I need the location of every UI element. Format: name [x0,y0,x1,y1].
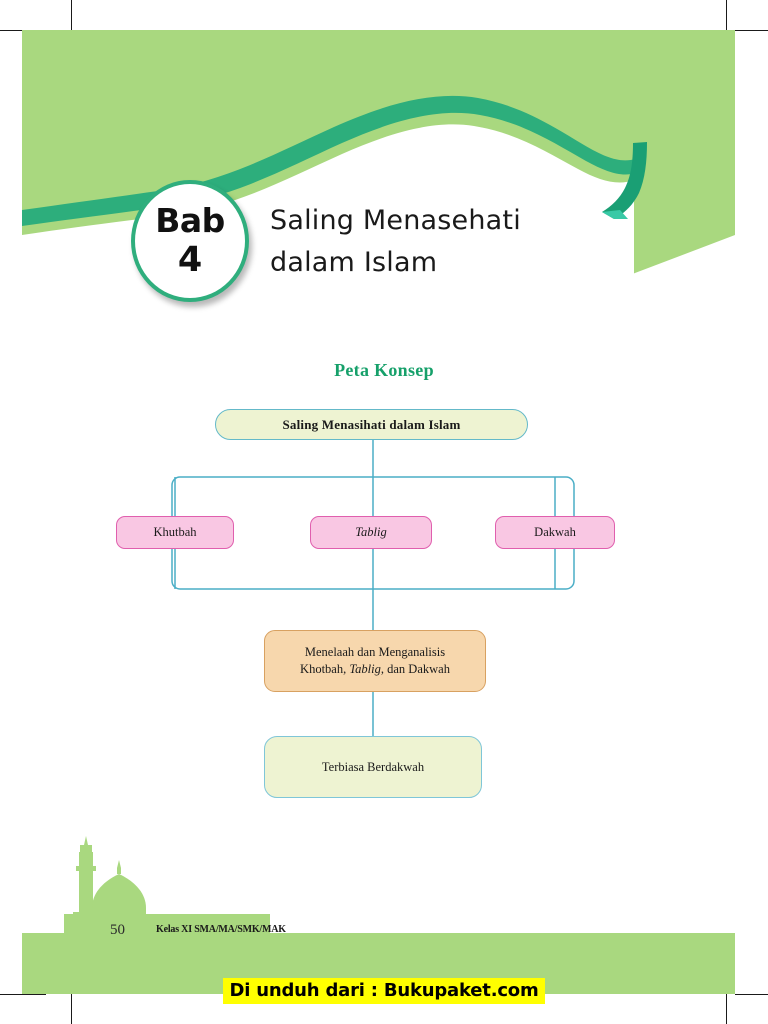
mosque-silhouette-icon [40,836,270,936]
concept-node-root: Saling Menasihati dalam Islam [215,409,528,440]
concept-node-khutbah: Khutbah [116,516,234,549]
process-line-2-pre: Khotbah, [300,662,349,676]
process-line-2-italic: Tablig [349,662,381,676]
download-banner-text: Di unduh dari : Bukupaket.com [223,978,544,1004]
chapter-label: Bab [155,204,225,237]
concept-node-dakwah: Dakwah [495,516,615,549]
process-line-1: Menelaah dan Menganalisis [305,645,445,659]
page-title: Saling Menasehati dalam Islam [270,200,521,284]
chapter-title-line-2: dalam Islam [270,242,521,284]
process-line-2-post: , dan Dakwah [381,662,450,676]
crop-mark-top-right-horizontal [735,30,768,31]
page-number: 50 [110,922,125,939]
footer-class-info: Kelas XI SMA/MA/SMK/MAK [156,924,286,935]
concept-node-process: Menelaah dan Menganalisis Khotbah, Tabli… [264,630,486,692]
concept-map: Saling Menasihati dalam Islam Khutbah Ta… [0,395,768,815]
concept-node-outcome: Terbiasa Berdakwah [264,736,482,798]
chapter-number-badge: Bab 4 [131,180,249,302]
concept-node-tablig: Tablig [310,516,432,549]
concept-map-heading: Peta Konsep [0,360,768,381]
textbook-page: Bab 4 Saling Menasehati dalam Islam Peta… [0,0,768,1024]
chapter-title-line-1: Saling Menasehati [270,200,521,242]
download-banner: Di unduh dari : Bukupaket.com [0,980,768,1001]
chapter-number: 4 [178,243,202,278]
